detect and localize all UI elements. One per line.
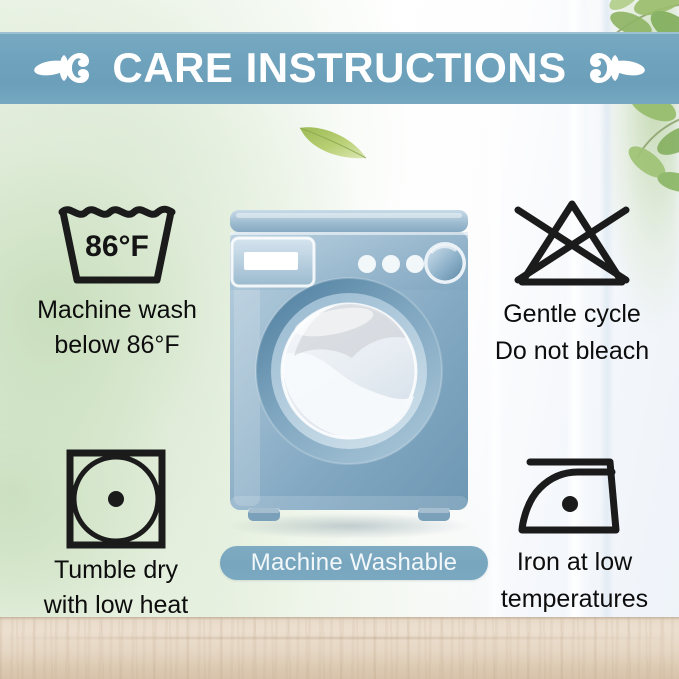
washer-button [382,255,400,273]
floating-leaf-icon [296,118,370,164]
care-label-line1: Machine wash [8,296,226,325]
do-not-bleach-triangle-icon [504,196,640,292]
care-item-iron-low: Iron at low temperatures [470,446,679,613]
care-item-tumble-dry: Tumble dry with low heat [10,446,222,619]
care-label-line1: Tumble dry [10,556,222,585]
banner-title: CARE INSTRUCTIONS [112,47,566,89]
wash-tub-icon: 86°F [52,196,182,290]
care-label-line1: Iron at low [470,548,679,577]
fleur-de-lis-icon [585,45,647,91]
fleur-de-lis-icon [32,45,94,91]
table-edge [0,617,679,620]
banner: CARE INSTRUCTIONS [0,32,679,104]
care-label-line2: below 86°F [8,331,226,360]
machine-washable-label: Machine Washable [251,549,457,577]
machine-washable-badge: Machine Washable [220,546,488,580]
care-label-line1: Gentle cycle [465,300,679,329]
iron-low-heat-icon [512,446,638,540]
table-plank-seam [0,637,679,639]
washer-button [358,255,376,273]
washer-button [406,255,424,273]
care-label-line2: temperatures [470,585,679,614]
wooden-table-surface [0,617,679,679]
care-label-line2: Do not bleach [465,337,679,366]
tumble-dry-low-icon [63,446,169,550]
wash-temp-value: 86°F [85,230,149,263]
care-item-machine-wash: 86°F Machine wash below 86°F [8,196,226,359]
care-instructions-poster: CARE INSTRUCTIONS 86°F Machine wash belo… [0,0,679,679]
washing-machine-illustration [224,206,474,538]
care-item-gentle-no-bleach: Gentle cycle Do not bleach [465,196,679,365]
care-label-line2: with low heat [10,591,222,620]
